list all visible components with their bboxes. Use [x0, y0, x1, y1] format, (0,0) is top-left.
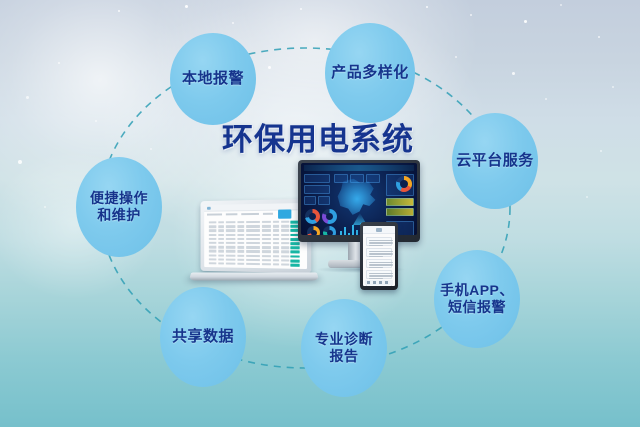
table-cell: [237, 238, 244, 240]
feature-bubble-product-diversity[interactable]: 产品多样化: [325, 23, 415, 123]
table-cell: [281, 259, 289, 262]
table-cell: [246, 259, 260, 262]
table-cell: [237, 263, 244, 265]
feature-bubble-line: 便捷操作: [90, 190, 148, 207]
table-cell: [281, 251, 289, 254]
table-cell: [209, 262, 217, 264]
feature-bubble-mobile-app-sms[interactable]: 手机APP、短信报警: [434, 250, 520, 348]
table-cell: [281, 229, 289, 231]
table-cell: [273, 229, 279, 231]
table-cell: [237, 254, 244, 256]
table-cell: [237, 225, 244, 227]
table-cell: [209, 246, 217, 248]
table-cell: [237, 259, 244, 261]
feature-bubble-label: 手机APP、短信报警: [440, 282, 514, 315]
list-item-line: [369, 256, 383, 258]
table-cell: [237, 234, 244, 236]
feature-bubble-label: 便捷操作和维护: [90, 190, 148, 223]
table-cell: [209, 238, 217, 240]
feature-bubble-line: 手机APP、: [440, 282, 514, 299]
table-cell: [246, 250, 260, 253]
table-cell: [237, 229, 244, 231]
table-cell: [262, 234, 271, 236]
table-cell: [226, 250, 236, 252]
table-cell: [281, 234, 289, 236]
table-cell: [226, 234, 236, 236]
list-item-line: [369, 253, 393, 255]
table-cell: [226, 242, 236, 244]
table-row: [207, 242, 304, 245]
list-item-line: [369, 240, 393, 242]
table-cell: [262, 263, 271, 266]
table-cell: [246, 234, 260, 236]
feature-bubble-label: 本地报警: [182, 70, 244, 88]
list-item-line: [369, 262, 393, 264]
table-cell: [218, 238, 224, 240]
table-cell: [218, 234, 224, 236]
table-cell: [273, 259, 279, 262]
table-cell: [209, 250, 217, 252]
table-cell: [237, 242, 244, 244]
feature-bubble-label: 共享数据: [172, 328, 234, 346]
list-item: [366, 248, 392, 257]
feature-bubble-line: 报告: [315, 348, 373, 365]
list-item-line: [369, 273, 393, 275]
table-row: [207, 246, 304, 250]
list-item-line: [369, 242, 393, 244]
table-cell: [262, 238, 271, 240]
table-cell: [262, 259, 271, 262]
table-cell: [226, 221, 236, 223]
table-cell: [218, 246, 224, 248]
table-row: [207, 221, 304, 225]
device-group: [190, 160, 440, 320]
table-cell: [218, 262, 224, 264]
table-cell: [218, 250, 224, 252]
table-cell: [218, 225, 224, 227]
table-cell: [226, 238, 236, 240]
feature-bubble-line: 和维护: [90, 207, 148, 224]
table-cell: [262, 250, 271, 252]
table-cell: [273, 246, 279, 248]
table-cell: [209, 242, 217, 244]
table-cell: [226, 263, 236, 266]
table-cell: [226, 254, 236, 256]
feature-bubble-local-alarm[interactable]: 本地报警: [170, 33, 256, 125]
table-cell: [273, 225, 279, 227]
table-cell: [273, 242, 279, 244]
page-title: 环保用电系统: [222, 114, 414, 159]
table-cell: [226, 229, 236, 231]
table-cell: [226, 225, 236, 227]
table-cell: [209, 225, 217, 227]
feature-bubble-line: 短信报警: [440, 299, 514, 316]
table-cell: [246, 242, 260, 244]
table-cell: [281, 246, 289, 248]
table-row: [207, 234, 304, 237]
table-cell: [281, 221, 289, 224]
table-cell: [209, 221, 217, 223]
table-row: [207, 225, 304, 229]
feature-bubble-easy-operation[interactable]: 便捷操作和维护: [76, 157, 162, 257]
feature-bubble-label: 云平台服务: [456, 152, 534, 170]
table-cell: [273, 255, 279, 257]
table-cell: [246, 221, 260, 224]
table-row: [207, 262, 304, 267]
list-item-line: [369, 245, 383, 247]
feature-bubble-label: 产品多样化: [331, 64, 409, 82]
laptop-lid: [200, 199, 311, 274]
table-cell: [209, 258, 217, 260]
smartphone: [360, 222, 398, 290]
table-cell: [273, 221, 279, 223]
table-cell: [262, 221, 271, 223]
table-cell: [218, 221, 224, 223]
list-item: [366, 259, 392, 268]
table-cell: [281, 263, 289, 266]
list-item: [366, 237, 392, 246]
table-cell: [209, 234, 217, 236]
table-cell: [246, 246, 260, 248]
table-row: [207, 238, 304, 241]
table-cell: [226, 258, 236, 260]
table-cell: [246, 225, 260, 227]
feature-bubble-line: 产品多样化: [331, 64, 409, 82]
monitor-screen: [301, 163, 417, 235]
table-cell: [262, 242, 271, 244]
desktop-monitor: [298, 160, 420, 278]
monitor-bezel: [298, 160, 420, 242]
table-cell: [262, 255, 271, 258]
table-cell: [218, 242, 224, 244]
table-cell: [281, 238, 289, 240]
table-cell: [273, 234, 279, 236]
list-item: [366, 270, 392, 279]
table-cell: [237, 221, 244, 223]
phone-body: [360, 222, 398, 290]
table-cell: [262, 246, 271, 248]
table-cell: [209, 254, 217, 256]
table-cell: [273, 251, 279, 253]
feature-bubble-line: 共享数据: [172, 328, 234, 346]
table-cell: [281, 242, 289, 244]
table-cell: [281, 255, 289, 258]
feature-bubble-cloud-platform[interactable]: 云平台服务: [452, 113, 538, 209]
feature-bubble-line: 专业诊断: [315, 331, 373, 348]
list-item-line: [369, 275, 393, 277]
poster-canvas: 本地报警产品多样化云平台服务手机APP、短信报警专业诊断报告共享数据便捷操作和维…: [0, 0, 640, 427]
table-cell: [273, 263, 279, 266]
table-row: [207, 229, 304, 232]
table-cell: [218, 230, 224, 232]
feature-bubble-line: 本地报警: [182, 70, 244, 88]
table-cell: [262, 225, 271, 227]
china-map-visualization: [335, 177, 379, 221]
table-cell: [273, 238, 279, 240]
table-cell: [246, 229, 260, 231]
table-cell: [209, 230, 217, 232]
table-cell: [246, 255, 260, 258]
table-cell: [281, 225, 289, 227]
table-cell: [218, 258, 224, 260]
table-cell: [237, 246, 244, 248]
table-cell: [262, 229, 271, 231]
table-cell: [246, 238, 260, 240]
feature-bubble-label: 专业诊断报告: [315, 331, 373, 364]
list-item-line: [369, 251, 393, 253]
laptop-screen: [204, 203, 307, 269]
list-item-line: [369, 267, 383, 269]
table-cell: [237, 250, 244, 252]
feature-bubble-line: 云平台服务: [456, 152, 534, 170]
table-cell: [246, 263, 260, 266]
table-cell: [218, 254, 224, 256]
list-item-line: [369, 264, 393, 266]
table-cell: [226, 246, 236, 248]
phone-screen: [363, 226, 395, 286]
